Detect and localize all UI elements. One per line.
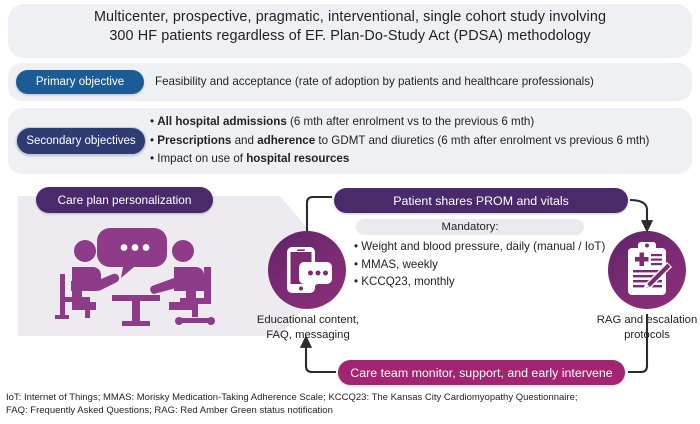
smartphone-chat-icon: [268, 231, 346, 309]
primary-objective-badge: Primary objective: [16, 70, 144, 94]
primary-objective-text: Feasibility and acceptance (rate of adop…: [155, 74, 594, 90]
educational-caption-line-2: FAQ, messaging: [266, 329, 350, 341]
primary-objective-badge-label: Primary objective: [36, 76, 124, 88]
care-team-monitor-pill: Care team monitor, support, and early in…: [338, 360, 625, 385]
patient-shares-prom-label: Patient shares PROM and vitals: [393, 194, 569, 208]
list-item: • Impact on use of hospital resources: [150, 150, 649, 169]
list-item: • Prescriptions and adherence to GDMT an…: [150, 132, 649, 151]
mandatory-label: Mandatory:: [356, 219, 584, 235]
list-item: • All hospital admissions (6 mth after e…: [150, 113, 649, 132]
page-title: Multicenter, prospective, pragmatic, int…: [0, 8, 700, 46]
educational-caption-line-1: Educational content,: [257, 314, 359, 326]
secondary-objectives-badge-label: Secondary objectives: [26, 135, 135, 147]
footnote-line-2: FAQ: Frequently Asked Questions; RAG: Re…: [6, 404, 694, 417]
care-plan-personalization-pill: Care plan personalization: [36, 187, 213, 213]
infographic-canvas: Multicenter, prospective, pragmatic, int…: [0, 0, 700, 424]
rag-caption-line-1: RAG and escalation: [597, 314, 697, 326]
medical-clipboard-pen-icon: [608, 231, 686, 309]
connector-careteam-to-education: [306, 342, 336, 372]
footnote: IoT: Internet of Things; MMAS: Morisky M…: [6, 391, 694, 417]
educational-content-caption: Educational content, FAQ, messaging: [244, 313, 372, 342]
care-team-monitor-label: Care team monitor, support, and early in…: [350, 366, 612, 380]
secondary-objectives-list: • All hospital admissions (6 mth after e…: [150, 113, 649, 169]
secondary-objectives-badge: Secondary objectives: [16, 127, 146, 155]
people-conversation-icon: [52, 222, 228, 326]
page-title-line-1: Multicenter, prospective, pragmatic, int…: [0, 8, 700, 27]
footnote-line-1: IoT: Internet of Things; MMAS: Morisky M…: [6, 391, 694, 404]
connector-prom-to-rag: [630, 200, 647, 226]
rag-protocols-caption: RAG and escalation protocols: [580, 313, 700, 342]
page-title-line-2: 300 HF patients regardless of EF. Plan-D…: [0, 27, 700, 46]
rag-caption-line-2: protocols: [624, 329, 670, 341]
patient-shares-prom-pill: Patient shares PROM and vitals: [334, 188, 628, 213]
care-plan-personalization-label: Care plan personalization: [58, 193, 192, 207]
connector-phone-to-prom: [307, 197, 332, 231]
